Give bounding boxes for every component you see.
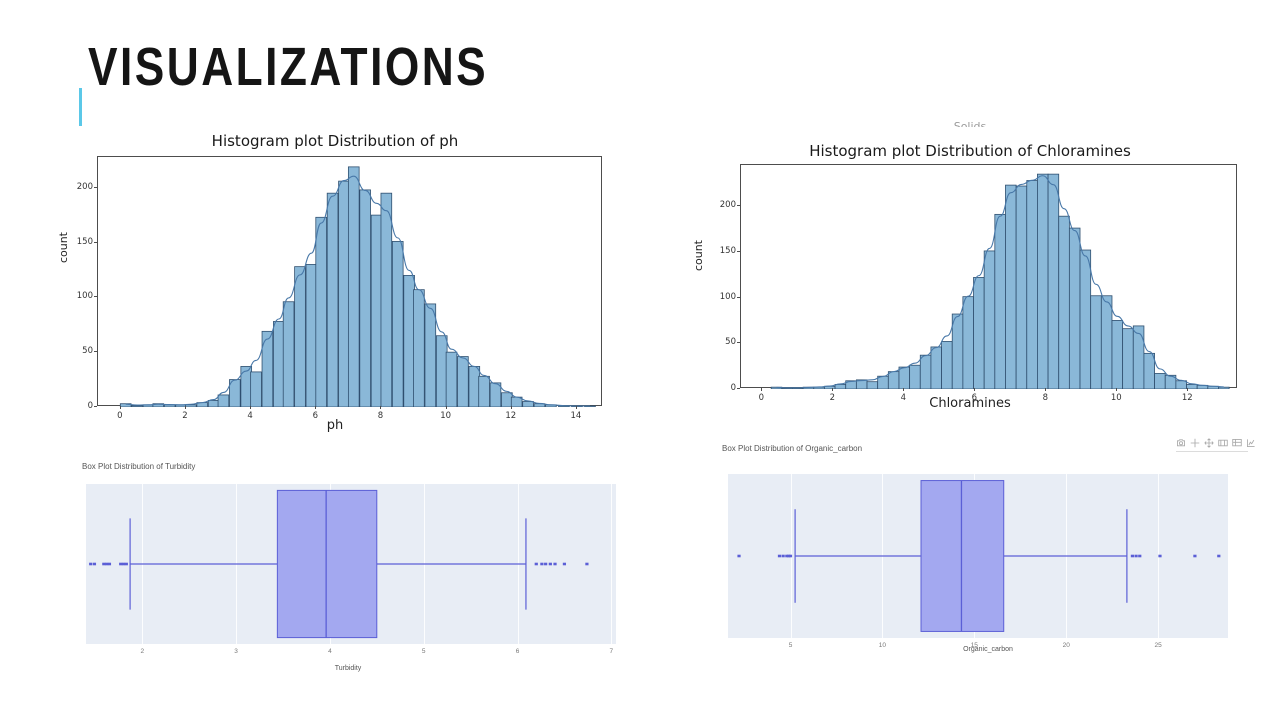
y-tick-mark bbox=[737, 297, 740, 298]
outlier-point bbox=[540, 563, 543, 566]
outlier-point bbox=[778, 555, 781, 558]
histogram-bar bbox=[1080, 250, 1091, 389]
x-tick-label: 10 bbox=[1108, 393, 1124, 403]
histogram-bar bbox=[425, 304, 436, 407]
histogram-bar bbox=[283, 302, 294, 407]
histogram-bar bbox=[381, 193, 392, 407]
plot-area bbox=[740, 164, 1237, 388]
x-tick-label: 12 bbox=[503, 411, 519, 421]
y-axis-label: count bbox=[57, 232, 70, 263]
autoscale-icon[interactable] bbox=[1232, 438, 1242, 448]
plot-area[interactable] bbox=[728, 474, 1228, 638]
plotly-modebar[interactable] bbox=[1176, 438, 1256, 448]
x-tick-label: 4 bbox=[242, 411, 258, 421]
box-iqr bbox=[921, 481, 1004, 632]
histogram-bar bbox=[436, 336, 447, 407]
y-tick-mark bbox=[737, 205, 740, 206]
x-tick-mark bbox=[446, 406, 447, 409]
histogram-bar bbox=[1005, 185, 1016, 389]
histogram-bar bbox=[251, 372, 262, 407]
chart-title: Histogram plot Distribution of ph bbox=[55, 132, 615, 150]
figure-histogram-ph: Histogram plot Distribution of ph count … bbox=[55, 132, 615, 442]
y-tick-label: 50 bbox=[714, 337, 736, 347]
histogram-bar bbox=[1218, 387, 1229, 389]
histogram-bar bbox=[1016, 186, 1027, 389]
x-tick-label: 4 bbox=[322, 648, 338, 655]
histogram-bar bbox=[479, 376, 490, 407]
x-axis-label: Organic_carbon bbox=[718, 646, 1258, 653]
modebar-underline bbox=[1176, 451, 1248, 452]
histogram-bar bbox=[306, 264, 317, 407]
outlier-point bbox=[549, 563, 552, 566]
pan-icon[interactable] bbox=[1204, 438, 1214, 448]
histogram-bar bbox=[1123, 329, 1134, 389]
x-tick-mark bbox=[250, 406, 251, 409]
outlier-point bbox=[108, 563, 111, 566]
y-tick-mark bbox=[737, 342, 740, 343]
histogram-bar bbox=[327, 193, 338, 407]
x-tick-label: 5 bbox=[783, 642, 799, 649]
histogram-bar bbox=[878, 376, 889, 389]
chart-title: Box Plot Distribution of Turbidity bbox=[82, 462, 195, 471]
outlier-point bbox=[544, 563, 547, 566]
x-tick-label: 2 bbox=[824, 393, 840, 403]
histogram-bar bbox=[218, 395, 229, 407]
histogram-bar bbox=[899, 367, 910, 389]
x-tick-mark bbox=[832, 388, 833, 391]
outlier-point bbox=[535, 563, 538, 566]
histogram-bar bbox=[974, 277, 985, 389]
histogram-bars bbox=[98, 157, 603, 407]
histogram-bar bbox=[931, 347, 942, 389]
outlier-point bbox=[102, 563, 105, 566]
chart-title: Histogram plot Distribution of Chloramin… bbox=[690, 142, 1250, 160]
y-tick-mark bbox=[94, 187, 97, 188]
histogram-bar bbox=[952, 314, 963, 389]
outlier-point bbox=[1193, 555, 1196, 558]
reset-axes-icon[interactable] bbox=[1246, 438, 1256, 448]
histogram-bar bbox=[1144, 353, 1155, 389]
outlier-point bbox=[1131, 555, 1134, 558]
x-tick-label: 14 bbox=[568, 411, 584, 421]
outlier-point bbox=[122, 563, 125, 566]
histogram-bar bbox=[984, 251, 995, 389]
histogram-bar bbox=[446, 352, 457, 407]
histogram-bar bbox=[348, 167, 359, 407]
x-tick-mark bbox=[185, 406, 186, 409]
box-iqr bbox=[277, 490, 376, 637]
x-tick-label: 5 bbox=[416, 648, 432, 655]
y-tick-mark bbox=[94, 351, 97, 352]
x-tick-label: 3 bbox=[228, 648, 244, 655]
histogram-bar bbox=[185, 405, 196, 407]
x-tick-label: 20 bbox=[1058, 642, 1074, 649]
outlier-point bbox=[563, 563, 566, 566]
histogram-bar bbox=[1037, 174, 1048, 389]
histogram-bar bbox=[339, 181, 350, 407]
outlier-point bbox=[125, 563, 128, 566]
x-tick-label: 10 bbox=[874, 642, 890, 649]
page-title: VISUALIZATIONS bbox=[88, 36, 488, 98]
x-tick-mark bbox=[974, 388, 975, 391]
x-tick-mark bbox=[903, 388, 904, 391]
y-tick-mark bbox=[737, 388, 740, 389]
zoom-icon[interactable] bbox=[1190, 438, 1200, 448]
plot-area[interactable] bbox=[86, 484, 616, 644]
x-tick-label: 6 bbox=[307, 411, 323, 421]
y-tick-label: 150 bbox=[714, 246, 736, 256]
x-axis-label: Turbidity bbox=[78, 665, 618, 672]
histogram-bar bbox=[867, 382, 878, 389]
x-tick-mark bbox=[576, 406, 577, 409]
y-tick-label: 200 bbox=[714, 200, 736, 210]
histogram-bar bbox=[132, 406, 143, 407]
histogram-bar bbox=[208, 400, 219, 407]
histogram-bar bbox=[295, 267, 306, 407]
y-tick-label: 100 bbox=[714, 292, 736, 302]
x-tick-label: 2 bbox=[134, 648, 150, 655]
outlier-point bbox=[789, 555, 792, 558]
histogram-bar bbox=[414, 290, 425, 407]
histogram-bar bbox=[360, 190, 371, 407]
histogram-bar bbox=[511, 397, 522, 407]
histogram-bar bbox=[942, 341, 953, 389]
y-tick-mark bbox=[737, 251, 740, 252]
histogram-bar bbox=[316, 217, 327, 407]
y-tick-label: 0 bbox=[71, 401, 93, 411]
y-axis-label: count bbox=[692, 240, 705, 271]
figure-histogram-chloramines: Solids Histogram plot Distribution of Ch… bbox=[690, 118, 1250, 418]
histogram-bar bbox=[1112, 320, 1123, 389]
x-tick-label: 0 bbox=[112, 411, 128, 421]
x-tick-label: 15 bbox=[966, 642, 982, 649]
camera-icon[interactable] bbox=[1176, 438, 1186, 448]
plot-area bbox=[97, 156, 602, 406]
x-tick-label: 0 bbox=[753, 393, 769, 403]
y-tick-mark bbox=[94, 296, 97, 297]
x-tick-label: 10 bbox=[438, 411, 454, 421]
histogram-bar bbox=[392, 241, 403, 407]
outlier-point bbox=[89, 563, 92, 566]
histogram-bar bbox=[490, 383, 501, 407]
outlier-point bbox=[119, 563, 122, 566]
outlier-point bbox=[1217, 555, 1220, 558]
x-tick-label: 25 bbox=[1150, 642, 1166, 649]
histogram-bar bbox=[1155, 373, 1166, 389]
histogram-bar bbox=[502, 393, 513, 407]
x-tick-mark bbox=[1116, 388, 1117, 391]
histogram-bar bbox=[835, 384, 846, 389]
histogram-bar bbox=[963, 297, 974, 389]
outlier-point bbox=[1138, 555, 1141, 558]
outlier-point bbox=[1158, 555, 1161, 558]
outlier-point bbox=[782, 555, 785, 558]
outlier-point bbox=[585, 563, 588, 566]
title-accent-bar bbox=[79, 88, 82, 126]
histogram-bar bbox=[1048, 174, 1059, 389]
outlier-point bbox=[737, 555, 740, 558]
y-tick-label: 50 bbox=[71, 346, 93, 356]
histogram-bar bbox=[1101, 296, 1112, 389]
x-tick-label: 12 bbox=[1179, 393, 1195, 403]
y-tick-mark bbox=[94, 242, 97, 243]
y-tick-label: 200 bbox=[71, 182, 93, 192]
histogram-bar bbox=[888, 372, 899, 389]
histogram-bar bbox=[404, 275, 415, 407]
histogram-bar bbox=[1091, 296, 1102, 389]
y-tick-label: 150 bbox=[71, 237, 93, 247]
y-tick-label: 0 bbox=[714, 383, 736, 393]
histogram-bar bbox=[273, 321, 284, 407]
histogram-bar bbox=[995, 214, 1006, 389]
histogram-bar bbox=[1059, 216, 1070, 389]
clipped-title-fragment: Solids bbox=[690, 120, 1250, 127]
outlier-point bbox=[553, 563, 556, 566]
x-tick-mark bbox=[120, 406, 121, 409]
y-tick-mark bbox=[94, 406, 97, 407]
boxplot-glyph bbox=[86, 484, 616, 644]
y-tick-label: 100 bbox=[71, 291, 93, 301]
histogram-bar bbox=[910, 365, 921, 389]
chart-title: Box Plot Distribution of Organic_carbon bbox=[722, 444, 862, 453]
x-tick-label: 6 bbox=[966, 393, 982, 403]
x-tick-mark bbox=[1187, 388, 1188, 391]
outlier-point bbox=[105, 563, 108, 566]
x-tick-mark bbox=[511, 406, 512, 409]
outlier-point bbox=[93, 563, 96, 566]
x-tick-mark bbox=[380, 406, 381, 409]
histogram-bar bbox=[1176, 381, 1187, 389]
x-tick-mark bbox=[315, 406, 316, 409]
histogram-bar bbox=[1133, 326, 1144, 389]
x-axis-label: ph bbox=[55, 418, 615, 433]
x-tick-label: 4 bbox=[895, 393, 911, 403]
outlier-point bbox=[1134, 555, 1137, 558]
histogram-bar bbox=[920, 355, 931, 389]
zoom-in-icon[interactable] bbox=[1218, 438, 1228, 448]
figure-boxplot-turbidity: Box Plot Distribution of Turbidity Turbi… bbox=[78, 458, 618, 678]
histogram-bar bbox=[1027, 181, 1038, 389]
x-tick-mark bbox=[1045, 388, 1046, 391]
histogram-bar bbox=[458, 357, 469, 407]
boxplot-glyph bbox=[728, 474, 1228, 638]
histogram-bar bbox=[523, 402, 534, 407]
x-tick-label: 2 bbox=[177, 411, 193, 421]
x-tick-mark bbox=[761, 388, 762, 391]
x-tick-label: 6 bbox=[510, 648, 526, 655]
x-tick-label: 8 bbox=[372, 411, 388, 421]
histogram-bar bbox=[1069, 228, 1080, 389]
x-tick-label: 8 bbox=[1037, 393, 1053, 403]
x-tick-label: 7 bbox=[603, 648, 619, 655]
histogram-bar bbox=[371, 215, 382, 407]
histogram-bars bbox=[741, 165, 1238, 389]
histogram-bar bbox=[469, 366, 480, 407]
figure-boxplot-organic-carbon: Box Plot Distribution of Organic_carbon … bbox=[718, 440, 1258, 660]
